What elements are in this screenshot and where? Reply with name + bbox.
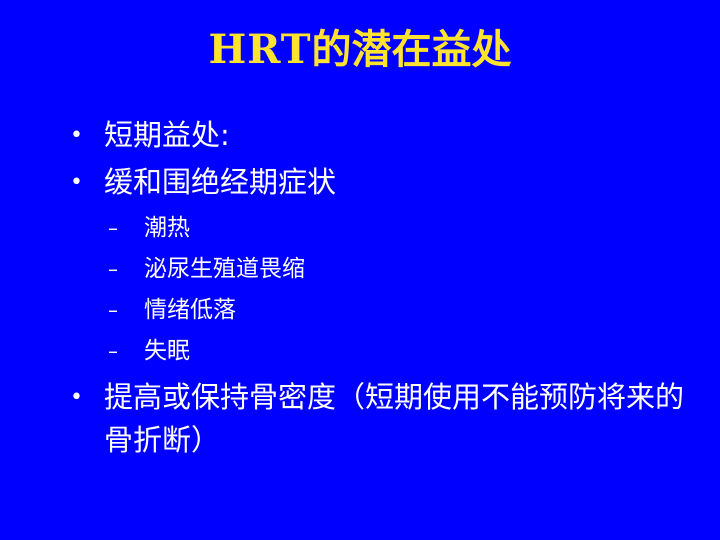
dash-icon: – bbox=[108, 249, 130, 290]
sub-bullet-text: 潮热 bbox=[144, 208, 698, 249]
dash-icon: – bbox=[108, 331, 130, 372]
slide-title: HRT的潜在益处 bbox=[0, 26, 720, 74]
bullet-dot-icon: • bbox=[70, 376, 90, 419]
sub-bullet-list: – 潮热 – 泌尿生殖道畏缩 – 情绪低落 – 失眠 bbox=[62, 208, 698, 372]
bullet-text: 提高或保持骨密度（短期使用不能预防将来的骨折断） bbox=[104, 376, 698, 462]
sub-bullet-item: – 失眠 bbox=[62, 331, 698, 372]
bullet-item: • 短期益处: bbox=[62, 112, 698, 159]
sub-bullet-item: – 情绪低落 bbox=[62, 290, 698, 331]
bullet-dot-icon: • bbox=[70, 112, 90, 159]
slide-body: • 短期益处: • 缓和围绝经期症状 – 潮热 – 泌尿生殖道畏缩 – 情绪低落… bbox=[62, 112, 698, 462]
slide-title-latin: HRT bbox=[208, 26, 311, 73]
bullet-text: 缓和围绝经期症状 bbox=[104, 159, 698, 206]
sub-bullet-text: 泌尿生殖道畏缩 bbox=[144, 249, 698, 290]
sub-bullet-item: – 潮热 bbox=[62, 208, 698, 249]
slide-title-han: 的潜在益处 bbox=[312, 27, 512, 73]
bullet-item: • 提高或保持骨密度（短期使用不能预防将来的骨折断） bbox=[62, 376, 698, 462]
bullet-item: • 缓和围绝经期症状 bbox=[62, 159, 698, 206]
presentation-slide: HRT的潜在益处 • 短期益处: • 缓和围绝经期症状 – 潮热 – 泌尿生殖道… bbox=[0, 0, 720, 540]
bullet-dot-icon: • bbox=[70, 159, 90, 206]
sub-bullet-text: 失眠 bbox=[144, 331, 698, 372]
sub-bullet-item: – 泌尿生殖道畏缩 bbox=[62, 249, 698, 290]
dash-icon: – bbox=[108, 290, 130, 331]
dash-icon: – bbox=[108, 208, 130, 249]
bullet-text: 短期益处: bbox=[104, 112, 698, 159]
sub-bullet-text: 情绪低落 bbox=[144, 290, 698, 331]
